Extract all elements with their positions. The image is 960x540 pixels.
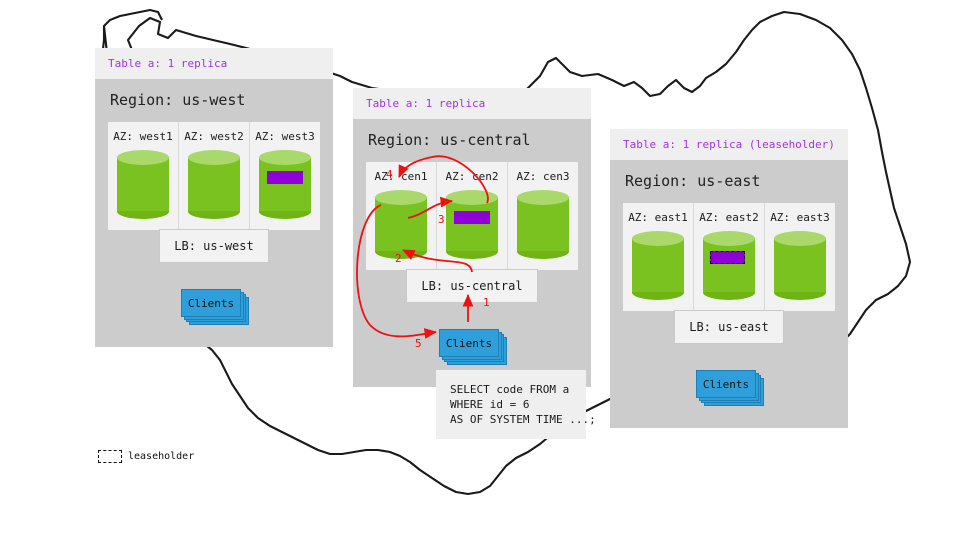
cylinder-top [517,190,569,205]
region-panel-us-east: Table a: 1 replica (leaseholder) Region:… [610,129,848,428]
database-cylinder-east2[interactable] [703,231,755,299]
clients-stack-us-east[interactable]: Clients [696,370,762,404]
leaseholder-swatch-icon [98,450,122,463]
clients-label: Clients [703,378,749,391]
az-row-us-east: AZ: east1 AZ: east2 [623,203,835,311]
clients-wrap-us-east: Clients [623,344,835,428]
region-panel-us-west: Table a: 1 replica Region: us-west AZ: w… [95,48,333,347]
cylinder-body [375,197,427,251]
cylinder-body [632,238,684,292]
az-label-west2: AZ: west2 [179,130,249,143]
region-title-us-central: Region: us-central [366,119,578,162]
cylinder-body [259,157,311,211]
cylinder-top [188,150,240,165]
az-cell-west3[interactable]: AZ: west3 [250,122,320,230]
az-label-cen1: AZ: cen1 [366,170,436,183]
az-label-east1: AZ: east1 [623,211,693,224]
az-cell-east1[interactable]: AZ: east1 [623,203,694,311]
region-body-us-central: Region: us-central AZ: cen1 AZ: cen2 [353,119,591,387]
cylinder-body [703,238,755,292]
az-cell-west2[interactable]: AZ: west2 [179,122,250,230]
legend: leaseholder [98,450,194,463]
arrow-label-4: 4 [386,168,393,181]
database-cylinder-cen1[interactable] [375,190,427,258]
arrow-label-5: 5 [415,337,422,350]
az-row-us-west: AZ: west1 AZ: west2 AZ [108,122,320,230]
sql-query-note: SELECT code FROM a WHERE id = 6 AS OF SY… [436,370,586,439]
az-cell-west1[interactable]: AZ: west1 [108,122,179,230]
legend-label: leaseholder [128,451,194,462]
replica-block-east2-leaseholder [710,251,745,264]
database-cylinder-cen3[interactable] [517,190,569,258]
clients-label: Clients [188,297,234,310]
clients-card-front[interactable]: Clients [181,289,241,317]
region-panel-us-central: Table a: 1 replica Region: us-central AZ… [353,88,591,387]
database-cylinder-east3[interactable] [774,231,826,299]
az-label-west1: AZ: west1 [108,130,178,143]
cylinder-top [117,150,169,165]
database-cylinder-east1[interactable] [632,231,684,299]
clients-label: Clients [446,337,492,350]
cylinder-body [188,157,240,211]
az-cell-cen3[interactable]: AZ: cen3 [508,162,578,270]
az-cell-east3[interactable]: AZ: east3 [765,203,835,311]
cylinder-top [375,190,427,205]
region-banner-us-west: Table a: 1 replica [95,48,333,79]
replica-block-cen2 [454,211,490,224]
az-label-west3: AZ: west3 [250,130,320,143]
cylinder-body [446,197,498,251]
cylinder-body [517,197,569,251]
region-body-us-west: Region: us-west AZ: west1 AZ: west2 [95,79,333,347]
az-cell-east2[interactable]: AZ: east2 [694,203,765,311]
arrow-label-1: 1 [483,296,490,309]
diagram-canvas: Table a: 1 replica Region: us-west AZ: w… [0,0,960,540]
az-label-cen3: AZ: cen3 [508,170,578,183]
load-balancer-us-east[interactable]: LB: us-east [674,310,783,344]
database-cylinder-cen2[interactable] [446,190,498,258]
cylinder-top [703,231,755,246]
clients-card-front[interactable]: Clients [439,329,499,357]
cylinder-body [117,157,169,211]
az-cell-cen2[interactable]: AZ: cen2 [437,162,508,270]
clients-stack-us-central[interactable]: Clients [439,329,505,363]
region-body-us-east: Region: us-east AZ: east1 AZ: east2 [610,160,848,428]
clients-stack-us-west[interactable]: Clients [181,289,247,323]
cylinder-top [774,231,826,246]
arrow-label-2: 2 [395,252,402,265]
cylinder-top [259,150,311,165]
region-banner-us-central: Table a: 1 replica [353,88,591,119]
database-cylinder-west3[interactable] [259,150,311,218]
region-title-us-east: Region: us-east [623,160,835,203]
cylinder-body [774,238,826,292]
az-label-cen2: AZ: cen2 [437,170,507,183]
clients-wrap-us-west: Clients [108,263,320,347]
cylinder-top [446,190,498,205]
arrow-label-3: 3 [438,213,445,226]
region-title-us-west: Region: us-west [108,79,320,122]
load-balancer-us-central[interactable]: LB: us-central [406,269,537,303]
database-cylinder-west2[interactable] [188,150,240,218]
az-label-east3: AZ: east3 [765,211,835,224]
database-cylinder-west1[interactable] [117,150,169,218]
region-banner-us-east: Table a: 1 replica (leaseholder) [610,129,848,160]
cylinder-top [632,231,684,246]
az-label-east2: AZ: east2 [694,211,764,224]
load-balancer-us-west[interactable]: LB: us-west [159,229,268,263]
replica-block-west3 [267,171,303,184]
clients-card-front[interactable]: Clients [696,370,756,398]
